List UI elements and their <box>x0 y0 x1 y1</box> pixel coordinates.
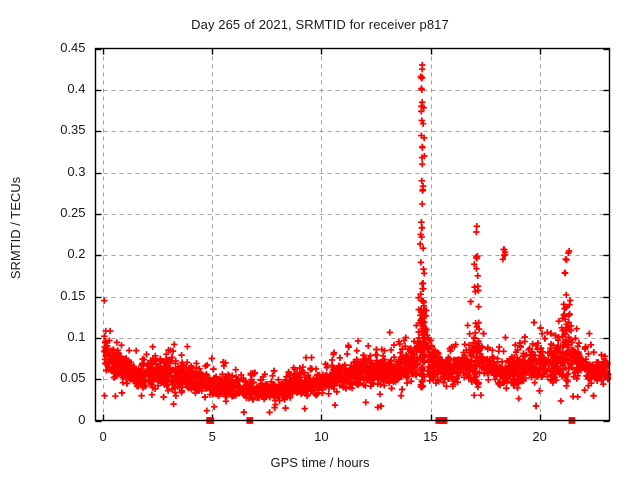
y-tick-label: 0.05 <box>26 370 86 385</box>
y-tick-label: 0 <box>26 412 86 427</box>
x-tick-label: 20 <box>520 429 560 444</box>
plot-canvas <box>0 0 640 480</box>
scatter-chart: Day 265 of 2021, SRMTID for receiver p81… <box>0 0 640 480</box>
x-tick-label: 5 <box>192 429 232 444</box>
x-tick-label: 15 <box>411 429 451 444</box>
y-tick-label: 0.35 <box>26 122 86 137</box>
y-tick-label: 0.2 <box>26 246 86 261</box>
y-tick-label: 0.1 <box>26 329 86 344</box>
y-tick-label: 0.15 <box>26 288 86 303</box>
y-tick-label: 0.45 <box>26 40 86 55</box>
y-tick-label: 0.3 <box>26 164 86 179</box>
y-tick-label: 0.25 <box>26 205 86 220</box>
x-tick-label: 10 <box>301 429 341 444</box>
data-points <box>101 62 611 424</box>
x-tick-label: 0 <box>83 429 123 444</box>
y-tick-label: 0.4 <box>26 81 86 96</box>
